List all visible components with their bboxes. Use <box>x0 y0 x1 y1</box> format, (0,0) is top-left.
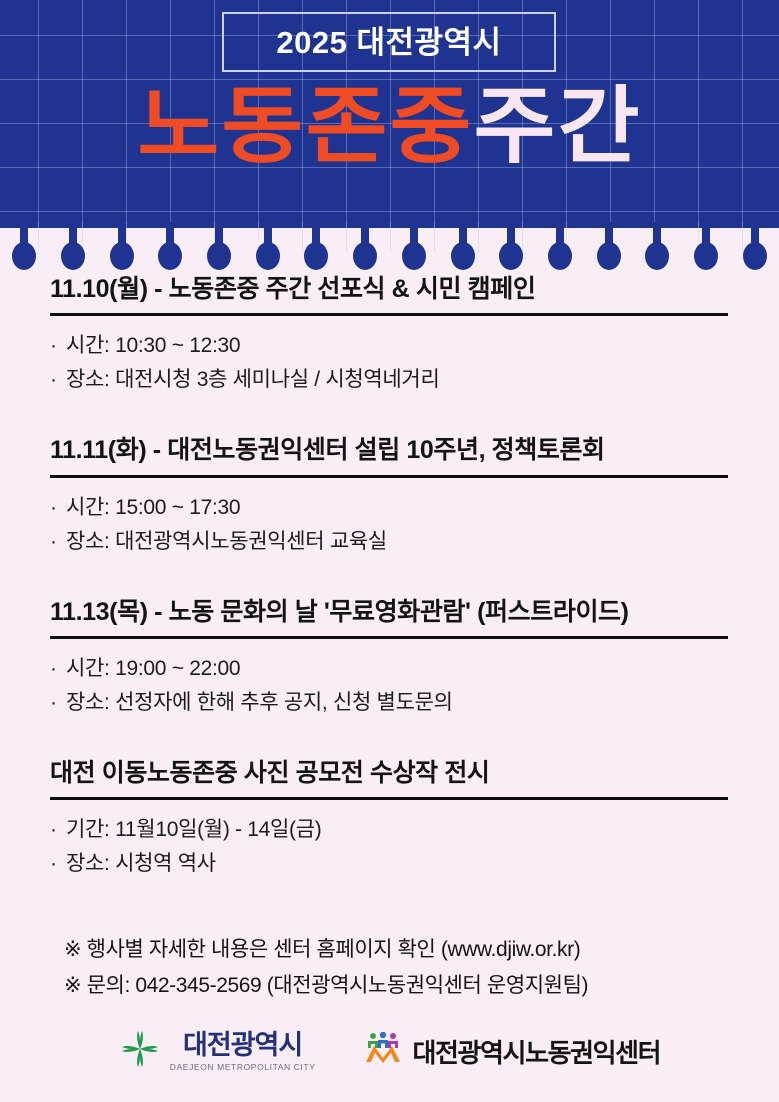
event-heading: 11.10(월) - 노동존중 주간 선포식 & 시민 캠페인 <box>50 274 729 305</box>
bullet-dot-icon: · <box>50 329 57 363</box>
event-detail-item: ·장소: 대전광역시노동권익센터 교육실 <box>50 525 729 559</box>
bullet-dot-icon: · <box>50 652 57 686</box>
event-block: 대전 이동노동존중 사진 공모전 수상작 전시·기간: 11월10일(월) - … <box>0 758 779 881</box>
event-heading: 11.13(목) - 노동 문화의 날 '무료영화관람' (퍼스트라이드) <box>50 597 729 628</box>
pin-bulb <box>61 242 85 270</box>
event-block: 11.13(목) - 노동 문화의 날 '무료영화관람' (퍼스트라이드)·시간… <box>0 597 779 720</box>
pin-bulb <box>207 242 231 270</box>
footer-logos: 대전광역시 DAEJEON METROPOLITAN CITY 대전광역시노동권… <box>0 1028 779 1075</box>
center-logo-name: 대전광역시노동권익센터 <box>412 1033 660 1070</box>
page-title-rest: 주간 <box>474 79 642 173</box>
event-spacer <box>0 559 779 597</box>
pin-bulb <box>645 242 669 270</box>
pin-bulb <box>451 242 475 270</box>
header-banner: 2025 대전광역시 노동존중주간 <box>0 0 779 228</box>
city-logo-name-en: DAEJEON METROPOLITAN CITY <box>170 1063 316 1072</box>
pin-bulb <box>12 242 36 270</box>
pin-bulb <box>548 242 572 270</box>
event-detail-item: ·시간: 19:00 ~ 22:00 <box>50 652 729 686</box>
event-detail-item: ·시간: 10:30 ~ 12:30 <box>50 329 729 363</box>
event-divider <box>50 313 728 316</box>
bullet-dot-icon: · <box>50 491 57 525</box>
event-detail-item: ·장소: 선정자에 한해 추후 공지, 신청 별도문의 <box>50 686 729 720</box>
bullet-dot-icon: · <box>50 686 57 720</box>
pin-bulb <box>402 242 426 270</box>
event-detail-text: 시간: 10:30 ~ 12:30 <box>66 334 240 357</box>
year-label-box: 2025 대전광역시 <box>222 12 556 72</box>
event-spacer <box>0 720 779 758</box>
event-detail-text: 시간: 15:00 ~ 17:30 <box>66 496 240 519</box>
event-divider <box>50 475 728 478</box>
bullet-dot-icon: · <box>50 363 57 397</box>
event-detail-item: ·장소: 시청역 역사 <box>50 847 729 881</box>
event-list: 11.10(월) - 노동존중 주간 선포식 & 시민 캠페인·시간: 10:3… <box>0 274 779 881</box>
bullet-dot-icon: · <box>50 525 57 559</box>
event-details: ·시간: 10:30 ~ 12:30·장소: 대전시청 3층 세미나실 / 시청… <box>50 329 729 397</box>
notes-section: ※ 행사별 자세한 내용은 센터 홈페이지 확인 (www.djiw.or.kr… <box>0 932 779 1004</box>
event-details: ·기간: 11월10일(월) - 14일(금)·장소: 시청역 역사 <box>50 813 729 881</box>
event-spacer <box>0 397 779 435</box>
event-detail-text: 장소: 대전광역시노동권익센터 교육실 <box>66 530 387 553</box>
page-title-highlight: 노동존중 <box>137 79 473 173</box>
event-detail-text: 장소: 시청역 역사 <box>66 852 216 875</box>
pin-bulb <box>743 242 767 270</box>
pin-bulb <box>110 242 134 270</box>
pin-fringe <box>0 222 779 274</box>
daejeon-pinwheel-icon <box>119 1028 161 1075</box>
event-detail-item: ·시간: 15:00 ~ 17:30 <box>50 491 729 525</box>
event-detail-text: 기간: 11월10일(월) - 14일(금) <box>66 818 321 841</box>
pin-bulb <box>304 242 328 270</box>
event-divider <box>50 797 728 800</box>
event-detail-item: ·장소: 대전시청 3층 세미나실 / 시청역네거리 <box>50 363 729 397</box>
poster: 2025 대전광역시 노동존중주간 11.10(월) - 노동존중 주간 선포식… <box>0 0 779 1102</box>
year-label: 2025 대전광역시 <box>276 27 501 58</box>
pin-bulb <box>158 242 182 270</box>
city-logo-text: 대전광역시 DAEJEON METROPOLITAN CITY <box>170 1032 316 1072</box>
labor-center-people-icon <box>363 1032 403 1071</box>
bullet-dot-icon: · <box>50 847 57 881</box>
event-detail-text: 장소: 대전시청 3층 세미나실 / 시청역네거리 <box>66 368 439 391</box>
event-heading: 대전 이동노동존중 사진 공모전 수상작 전시 <box>50 758 729 789</box>
event-detail-item: ·기간: 11월10일(월) - 14일(금) <box>50 813 729 847</box>
city-logo-name-kr: 대전광역시 <box>183 1032 302 1059</box>
event-detail-text: 장소: 선정자에 한해 추후 공지, 신청 별도문의 <box>66 691 453 714</box>
city-logo: 대전광역시 DAEJEON METROPOLITAN CITY <box>119 1028 316 1075</box>
pin-bulb <box>353 242 377 270</box>
event-divider <box>50 636 728 639</box>
event-details: ·시간: 19:00 ~ 22:00·장소: 선정자에 한해 추후 공지, 신청… <box>50 652 729 720</box>
event-block: 11.10(월) - 노동존중 주간 선포식 & 시민 캠페인·시간: 10:3… <box>0 274 779 397</box>
event-details: ·시간: 15:00 ~ 17:30·장소: 대전광역시노동권익센터 교육실 <box>50 491 729 559</box>
page-title: 노동존중주간 <box>0 82 779 170</box>
pin-bulb <box>256 242 280 270</box>
pin-bulb <box>597 242 621 270</box>
footer-note: ※ 문의: 042-345-2569 (대전광역시노동권익센터 운영지원팀) <box>64 968 715 1004</box>
event-block: 11.11(화) - 대전노동권익센터 설립 10주년, 정책토론회·시간: 1… <box>0 435 779 558</box>
event-detail-text: 시간: 19:00 ~ 22:00 <box>66 657 240 680</box>
bullet-dot-icon: · <box>50 813 57 847</box>
event-heading: 11.11(화) - 대전노동권익센터 설립 10주년, 정책토론회 <box>50 435 729 466</box>
pin-bulb <box>694 242 718 270</box>
center-logo: 대전광역시노동권익센터 <box>363 1032 660 1071</box>
pin-bulb <box>499 242 523 270</box>
footer-note: ※ 행사별 자세한 내용은 센터 홈페이지 확인 (www.djiw.or.kr… <box>64 932 715 968</box>
